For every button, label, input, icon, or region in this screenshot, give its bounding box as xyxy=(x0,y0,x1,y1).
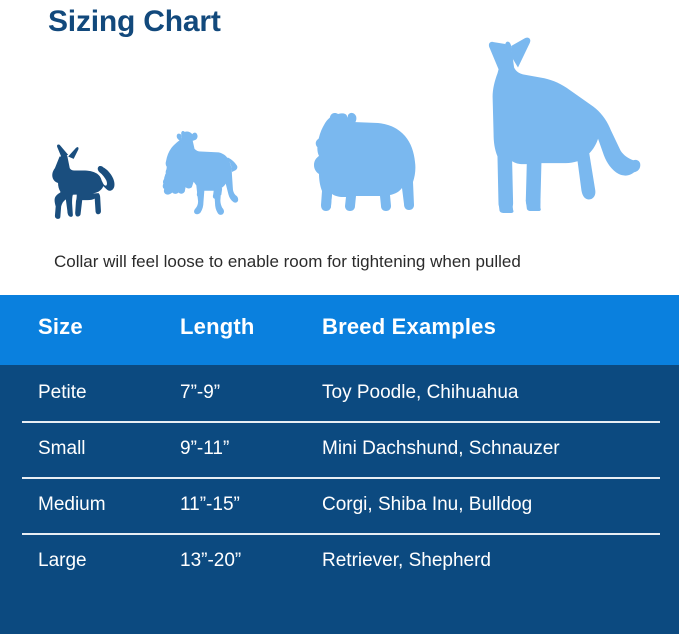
cell-size: Medium xyxy=(38,494,106,516)
cell-breed: Mini Dachshund, Schnauzer xyxy=(322,438,560,460)
sizing-table: Size Length Breed Examples Petite 7”-9” … xyxy=(0,295,679,634)
sizing-chart-page: Sizing Chart xyxy=(0,0,679,634)
header-length: Length xyxy=(180,314,255,340)
table-row: Petite 7”-9” Toy Poodle, Chihuahua xyxy=(0,365,679,421)
table-header-row: Size Length Breed Examples xyxy=(0,295,679,365)
cell-length: 11”-15” xyxy=(180,494,240,516)
cell-length: 13”-20” xyxy=(180,550,241,572)
cell-breed: Corgi, Shiba Inu, Bulldog xyxy=(322,494,532,516)
chihuahua-silhouette xyxy=(44,144,122,222)
table-row: Small 9”-11” Mini Dachshund, Schnauzer xyxy=(0,421,679,477)
table-row: Medium 11”-15” Corgi, Shiba Inu, Bulldog xyxy=(0,477,679,533)
cell-size: Petite xyxy=(38,382,87,404)
collar-fit-note: Collar will feel loose to enable room fo… xyxy=(54,250,521,274)
cell-length: 9”-11” xyxy=(180,438,229,460)
cell-breed: Toy Poodle, Chihuahua xyxy=(322,382,518,404)
table-body: Petite 7”-9” Toy Poodle, Chihuahua Small… xyxy=(0,365,679,634)
schnauzer-silhouette xyxy=(158,122,256,222)
cell-size: Large xyxy=(38,550,87,572)
header-breed: Breed Examples xyxy=(322,314,496,340)
cell-size: Small xyxy=(38,438,86,460)
bulldog-silhouette xyxy=(308,102,428,222)
header-size: Size xyxy=(38,314,83,340)
cell-length: 7”-9” xyxy=(180,382,220,404)
dog-silhouette-row xyxy=(0,22,679,222)
table-row: Large 13”-20” Retriever, Shepherd xyxy=(0,533,679,589)
cell-breed: Retriever, Shepherd xyxy=(322,550,491,572)
shepherd-silhouette xyxy=(476,36,642,222)
